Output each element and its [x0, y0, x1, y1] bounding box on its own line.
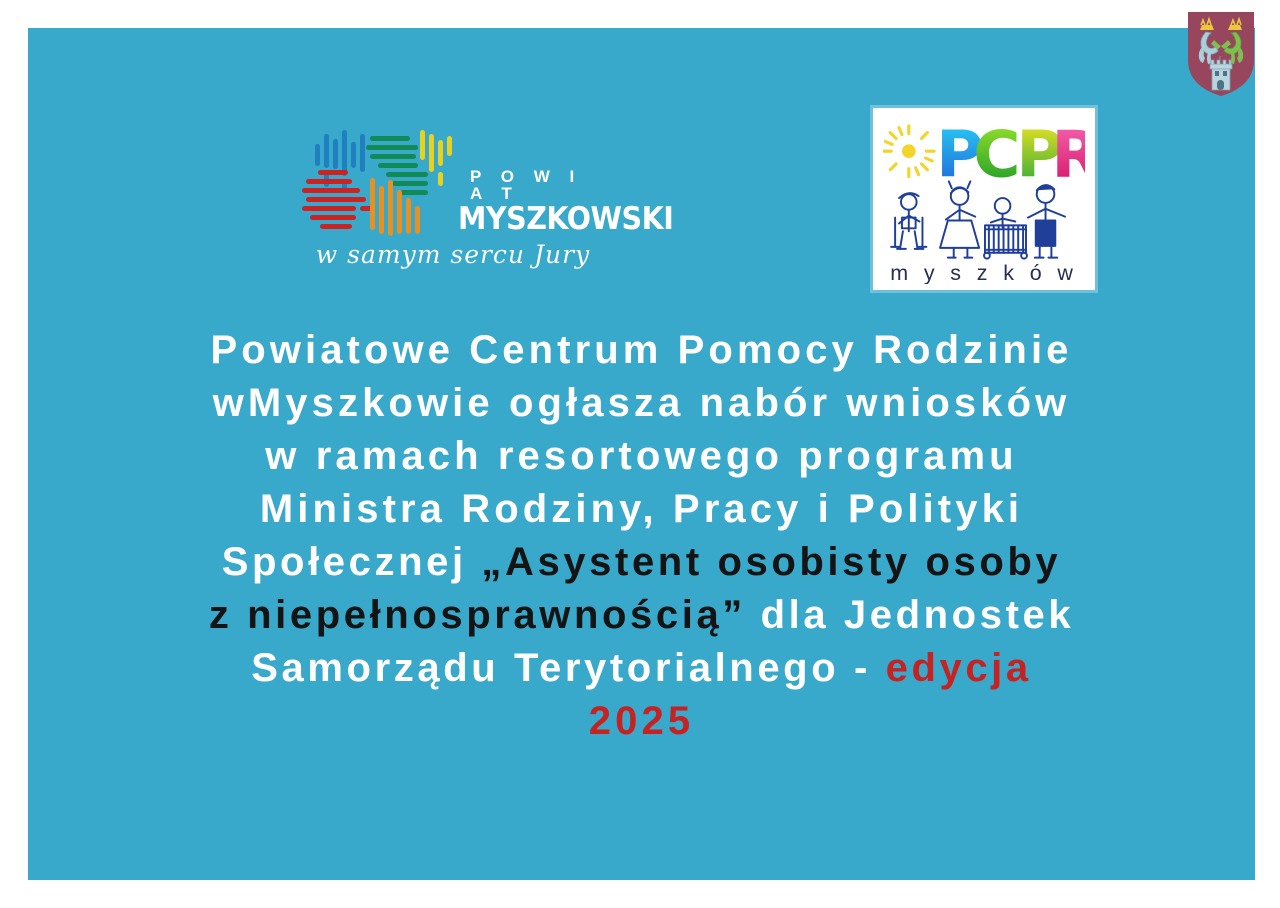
headline-segment: w ramach resortowego programu: [265, 434, 1017, 478]
headline-segment-emphasis: z niepełnosprawnością”: [209, 593, 746, 637]
headline-segment: Samorządu Terytorialnego -: [251, 646, 885, 690]
headline-segment: Społecznej: [222, 540, 482, 584]
headline-segment: Powiatowe Centrum Pomocy Rodzinie: [210, 328, 1072, 372]
svg-text:R: R: [1051, 118, 1085, 193]
powiat-logo-wordmark: P O W I A T MYSZKOWSKI: [458, 168, 603, 236]
headline-segment: Ministra Rodziny, Pracy i Polityki: [260, 487, 1023, 531]
svg-text:C: C: [973, 118, 1020, 193]
headline-segment-emphasis: „Asystent osobisty osoby: [481, 540, 1061, 584]
headline-line: Samorządu Terytorialnego - edycja: [68, 642, 1215, 695]
powiat-myszkowski-logo: P O W I A T MYSZKOWSKI w samym sercu Jur…: [300, 128, 600, 273]
powiat-logo-line2: MYSZKOWSKI: [458, 203, 591, 236]
headline-line: Powiatowe Centrum Pomocy Rodzinie: [68, 324, 1215, 377]
headline-segment-year: 2025: [589, 699, 694, 743]
coat-of-arms-powiat-myszkowski: [1186, 10, 1256, 98]
powiat-logo-mark-icon: [300, 128, 468, 240]
headline-line: w ramach resortowego programu: [68, 430, 1215, 483]
headline-line: 2025: [68, 695, 1215, 748]
powiat-logo-line1: P O W I A T: [458, 168, 603, 202]
headline-segment: dla Jednostek: [746, 593, 1074, 637]
family-figures-icon: [891, 181, 1065, 258]
poster-root: P O W I A T MYSZKOWSKI w samym sercu Jur…: [0, 0, 1280, 908]
headline-block: Powiatowe Centrum Pomocy Rodzinie wMyszk…: [68, 324, 1215, 748]
headline-line: Ministra Rodziny, Pracy i Polityki: [68, 483, 1215, 536]
pcpr-city-label: m y s z k ó w: [890, 261, 1078, 284]
powiat-logo-tagline: w samym sercu Jury: [308, 240, 598, 269]
headline-segment: wMyszkowie ogłasza nabór wniosków: [213, 381, 1071, 425]
headline-segment-edition: edycja: [886, 646, 1032, 690]
headline-line: wMyszkowie ogłasza nabór wniosków: [68, 377, 1215, 430]
sun-icon: [883, 126, 934, 177]
pcpr-acronym-letters: P C P R: [936, 118, 1085, 193]
headline-line: Społecznej „Asystent osobisty osoby: [68, 536, 1215, 589]
poster-background-panel: P O W I A T MYSZKOWSKI w samym sercu Jur…: [28, 28, 1255, 880]
pcpr-myszkow-logo: P C P R: [870, 105, 1098, 293]
headline-line: z niepełnosprawnością” dla Jednostek: [68, 589, 1215, 642]
